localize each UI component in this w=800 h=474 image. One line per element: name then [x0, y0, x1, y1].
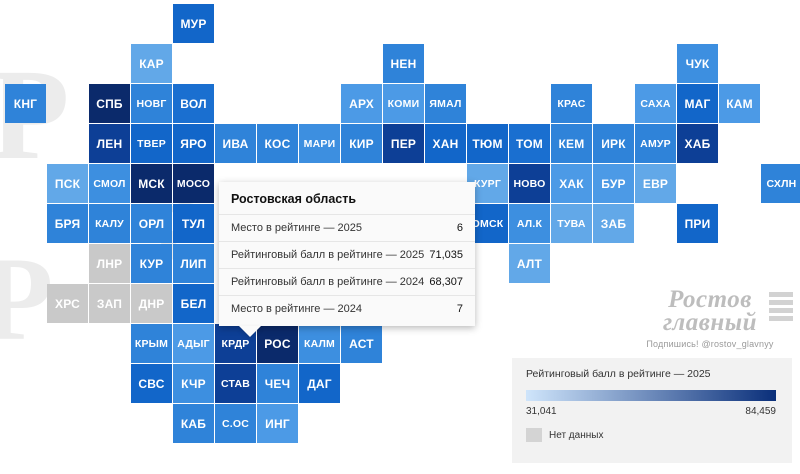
map-tile[interactable]: МСК: [131, 164, 172, 203]
map-tile[interactable]: КОС: [257, 124, 298, 163]
legend-scale: 31,041 84,459: [526, 406, 776, 417]
map-tile[interactable]: БУР: [593, 164, 634, 203]
map-tile[interactable]: ТУЛ: [173, 204, 214, 243]
legend-no-data: Нет данных: [526, 428, 778, 442]
map-tile[interactable]: САХА: [635, 84, 676, 123]
tooltip-row-label: Место в рейтинге — 2025: [231, 222, 362, 234]
map-tile[interactable]: МОСО: [173, 164, 214, 203]
map-tile[interactable]: СПБ: [89, 84, 130, 123]
map-canvas: Р г Р МУРКАРНЕНЧУККНГСПБНОВГВОЛАРХКОМИЯМ…: [0, 0, 800, 474]
map-tile[interactable]: ЛНР: [89, 244, 130, 283]
map-tile[interactable]: БРЯ: [47, 204, 88, 243]
tooltip-rows: Место в рейтинге — 20256Рейтинговый балл…: [219, 214, 475, 322]
tooltip-row: Рейтинговый балл в рейтинге — 202468,307: [219, 268, 475, 295]
map-tile[interactable]: С.ОС: [215, 404, 256, 443]
map-tile[interactable]: АЛТ: [509, 244, 550, 283]
map-tile[interactable]: ОРЛ: [131, 204, 172, 243]
tooltip-row: Рейтинговый балл в рейтинге — 202571,035: [219, 241, 475, 268]
map-tile[interactable]: КАЛУ: [89, 204, 130, 243]
map-tile[interactable]: КАР: [131, 44, 172, 83]
map-tile[interactable]: ДНР: [131, 284, 172, 323]
map-tile[interactable]: АЛ.К: [509, 204, 550, 243]
map-tile[interactable]: КРАС: [551, 84, 592, 123]
map-tile[interactable]: ТУВА: [551, 204, 592, 243]
tooltip-pointer: [239, 326, 261, 337]
map-tile[interactable]: ХРС: [47, 284, 88, 323]
tooltip-row-value: 68,307: [429, 276, 463, 288]
map-tile[interactable]: БЕЛ: [173, 284, 214, 323]
no-data-swatch-icon: [526, 428, 542, 442]
map-tile[interactable]: КРЫМ: [131, 324, 172, 363]
map-tile[interactable]: КНГ: [5, 84, 46, 123]
map-tile[interactable]: ВОЛ: [173, 84, 214, 123]
map-tile[interactable]: ЯМАЛ: [425, 84, 466, 123]
map-tile[interactable]: ХАБ: [677, 124, 718, 163]
map-tile[interactable]: ИВА: [215, 124, 256, 163]
map-tile[interactable]: АДЫГ: [173, 324, 214, 363]
map-tile[interactable]: РОС: [257, 324, 298, 363]
map-tile[interactable]: ТЮМ: [467, 124, 508, 163]
map-tile[interactable]: МАГ: [677, 84, 718, 123]
map-tile[interactable]: ТОМ: [509, 124, 550, 163]
map-tile[interactable]: ЯРО: [173, 124, 214, 163]
map-tile[interactable]: ЧУК: [677, 44, 718, 83]
logo-bars-icon: [769, 292, 793, 322]
map-tile[interactable]: НОВГ: [131, 84, 172, 123]
legend-colorbar: [526, 390, 776, 401]
map-tile[interactable]: ПСК: [47, 164, 88, 203]
tooltip-row-label: Рейтинговый балл в рейтинге — 2025: [231, 249, 424, 261]
map-tile[interactable]: СХЛН: [761, 164, 800, 203]
map-tile[interactable]: СВС: [131, 364, 172, 403]
map-tile[interactable]: АРХ: [341, 84, 382, 123]
tooltip-row: Место в рейтинге — 20247: [219, 295, 475, 322]
legend-title: Рейтинговый балл в рейтинге — 2025: [526, 368, 778, 380]
map-tile[interactable]: КАЛМ: [299, 324, 340, 363]
legend: Рейтинговый балл в рейтинге — 2025 31,04…: [512, 358, 792, 463]
map-tile[interactable]: КУР: [131, 244, 172, 283]
map-tile[interactable]: НОВО: [509, 164, 550, 203]
map-tile[interactable]: КАБ: [173, 404, 214, 443]
map-tile[interactable]: АСТ: [341, 324, 382, 363]
map-tile[interactable]: КАМ: [719, 84, 760, 123]
tooltip-row-value: 7: [457, 303, 463, 315]
watermark-letter-3: Р: [0, 230, 53, 368]
map-tile[interactable]: ИНГ: [257, 404, 298, 443]
map-tile[interactable]: СМОЛ: [89, 164, 130, 203]
tooltip-row-label: Место в рейтинге — 2024: [231, 303, 362, 315]
tooltip-row: Место в рейтинге — 20256: [219, 214, 475, 241]
tooltip-title: Ростовская область: [219, 190, 475, 214]
map-tile[interactable]: ЗАБ: [593, 204, 634, 243]
legend-min: 31,041: [526, 406, 557, 417]
map-tile[interactable]: КЕМ: [551, 124, 592, 163]
map-tile[interactable]: ИРК: [593, 124, 634, 163]
map-tile[interactable]: КИР: [341, 124, 382, 163]
tooltip-row-value: 71,035: [429, 249, 463, 261]
map-tile[interactable]: ЛИП: [173, 244, 214, 283]
region-tooltip: Ростовская область Место в рейтинге — 20…: [219, 182, 475, 326]
tooltip-row-value: 6: [457, 222, 463, 234]
map-tile[interactable]: КЧР: [173, 364, 214, 403]
map-tile[interactable]: ЕВР: [635, 164, 676, 203]
map-tile[interactable]: ХАК: [551, 164, 592, 203]
map-tile[interactable]: ПЕР: [383, 124, 424, 163]
map-tile[interactable]: ТВЕР: [131, 124, 172, 163]
map-tile[interactable]: СТАВ: [215, 364, 256, 403]
map-tile[interactable]: ХАН: [425, 124, 466, 163]
map-tile[interactable]: ЛЕН: [89, 124, 130, 163]
logo-handle: Подпишись! @rostov_glavnyy: [625, 339, 795, 349]
map-tile[interactable]: ПРИ: [677, 204, 718, 243]
map-tile[interactable]: АМУР: [635, 124, 676, 163]
tooltip-row-label: Рейтинговый балл в рейтинге — 2024: [231, 276, 424, 288]
map-tile[interactable]: НЕН: [383, 44, 424, 83]
map-tile[interactable]: КОМИ: [383, 84, 424, 123]
map-tile[interactable]: МАРИ: [299, 124, 340, 163]
channel-logo: Ростов главный Подпишись! @rostov_glavny…: [625, 288, 795, 366]
map-tile[interactable]: ЗАП: [89, 284, 130, 323]
map-tile[interactable]: ЧЕЧ: [257, 364, 298, 403]
legend-no-data-label: Нет данных: [549, 430, 603, 441]
map-tile[interactable]: ДАГ: [299, 364, 340, 403]
legend-max: 84,459: [745, 406, 776, 417]
map-tile[interactable]: МУР: [173, 4, 214, 43]
